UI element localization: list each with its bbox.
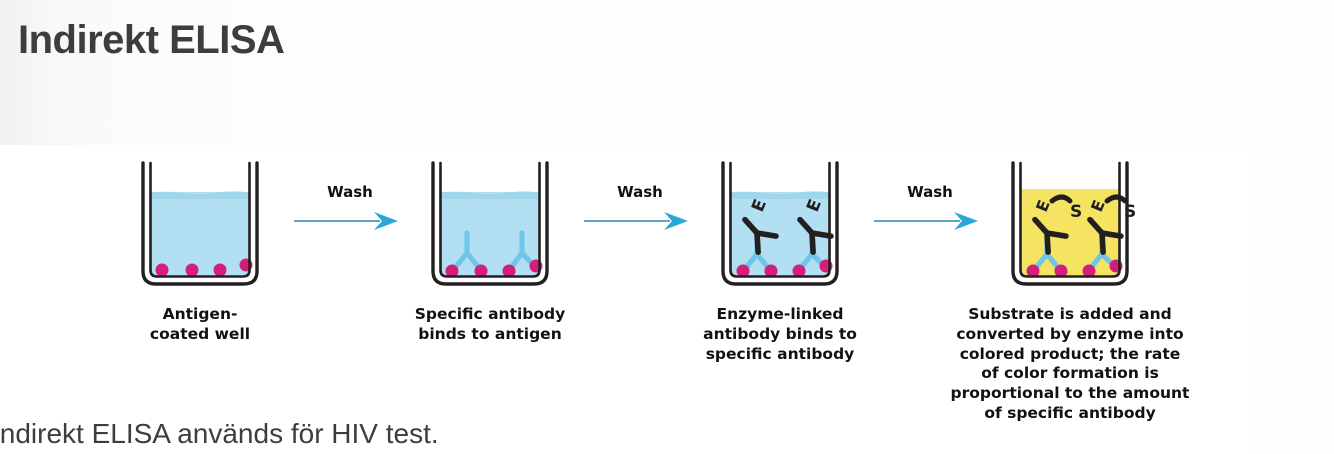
step-label-3: Enzyme-linked antibody binds to specific…	[655, 305, 905, 364]
well-antigen-coated	[120, 145, 280, 300]
elisa-steps-row: Antigen- coated well Wash	[0, 145, 1254, 454]
well-illustration-1	[120, 145, 280, 300]
well-illustration-2	[410, 145, 570, 300]
step-label-1: Antigen- coated well	[75, 305, 325, 345]
step-label-2: Specific antibody binds to antigen	[365, 305, 615, 345]
slide-caption: Indirekt ELISA används för HIV test.	[0, 418, 439, 450]
substrate-letter-4a: S	[1070, 202, 1082, 222]
well-substrate-colored: E E S S	[990, 145, 1150, 300]
page-title: Indirekt ELISA	[18, 18, 284, 63]
well-illustration-4: E E S S	[990, 145, 1150, 300]
well-enzyme-linked: E E	[700, 145, 860, 300]
step-label-4: Substrate is added and converted by enzy…	[939, 305, 1201, 424]
elisa-diagram-image: Antigen- coated well Wash	[0, 145, 1254, 454]
well-specific-antibody	[410, 145, 570, 300]
elisa-step-substrate-added: E E S S Substrate is added and converted	[925, 145, 1215, 454]
well-illustration-3: E E	[700, 145, 860, 300]
